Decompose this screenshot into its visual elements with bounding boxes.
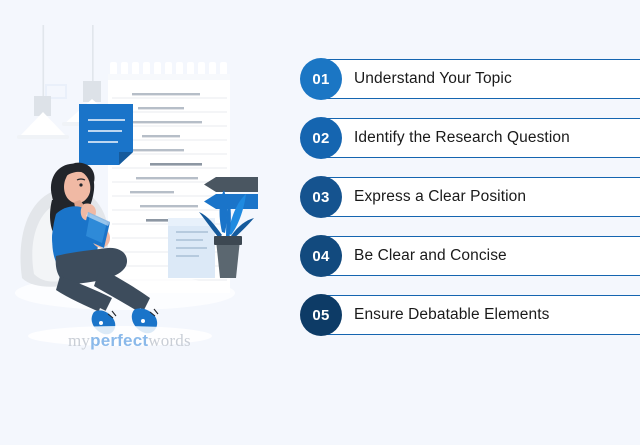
steps-list: Understand Your Topic 01 Identify the Re… (300, 59, 640, 359)
step-label: Understand Your Topic (354, 59, 512, 99)
step-label: Be Clear and Concise (354, 236, 507, 276)
list-item[interactable]: Understand Your Topic 01 (300, 59, 640, 99)
step-number-badge: 02 (300, 117, 342, 159)
infographic-page: myperfectwords Understand Your Topic 01 … (0, 0, 640, 440)
list-item[interactable]: Ensure Debatable Elements 05 (300, 295, 640, 335)
logo-text-perfect: perfect (90, 331, 148, 350)
step-number-badge: 03 (300, 176, 342, 218)
step-label: Identify the Research Question (354, 118, 570, 158)
paper-sheet (168, 218, 215, 278)
step-number-badge: 01 (300, 58, 342, 100)
blue-sticky-note (79, 104, 133, 165)
step-label: Ensure Debatable Elements (354, 295, 550, 335)
logo-text-words: words (148, 331, 191, 350)
step-label: Express a Clear Position (354, 177, 526, 217)
list-item[interactable]: Express a Clear Position 03 (300, 177, 640, 217)
list-item[interactable]: Be Clear and Concise 04 (300, 236, 640, 276)
logo-text-my: my (68, 331, 90, 350)
brand-logo: myperfectwords (68, 331, 191, 351)
step-number-badge: 05 (300, 294, 342, 336)
list-item[interactable]: Identify the Research Question 02 (300, 118, 640, 158)
woman-reading-illustration (0, 0, 290, 440)
step-number-badge: 04 (300, 235, 342, 277)
